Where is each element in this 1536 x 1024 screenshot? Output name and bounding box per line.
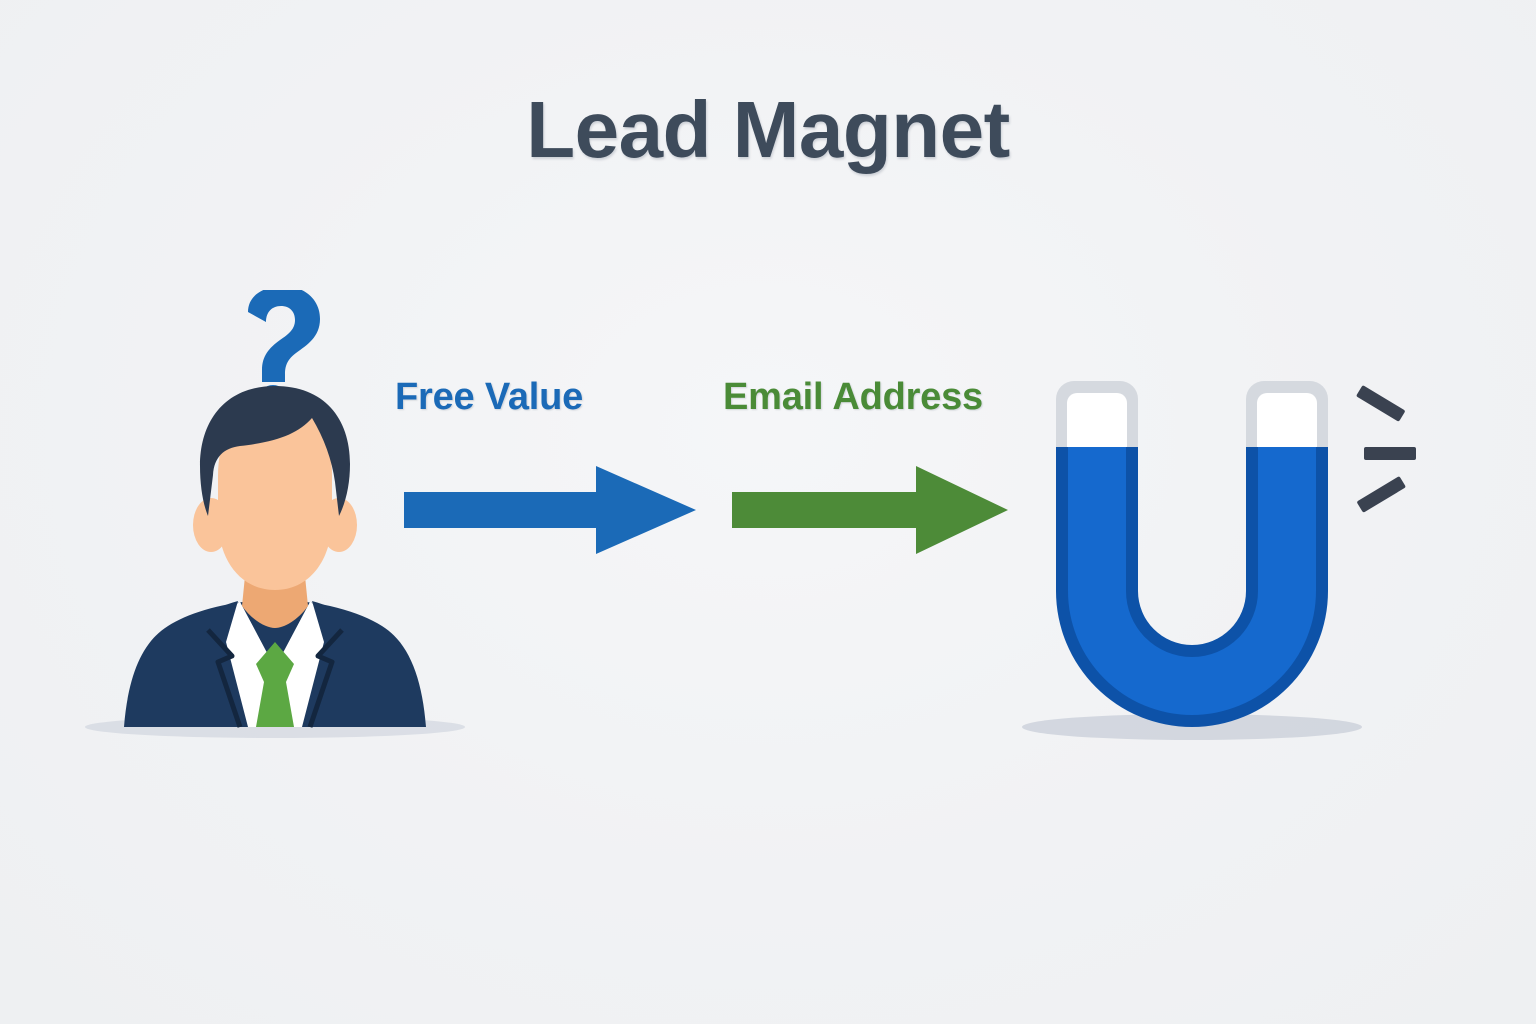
illustration-canvas: Lead Magnet (0, 0, 1536, 1024)
magnet-poles (1056, 381, 1328, 447)
right-arrow-icon-email-address (728, 462, 1012, 558)
arrow-label-email-address: Email Address (723, 376, 983, 419)
right-arrow-icon-free-value (400, 462, 700, 558)
horseshoe-magnet-illustration (1020, 355, 1440, 755)
page-title: Lead Magnet (0, 88, 1536, 172)
arrow-label-free-value: Free Value (395, 376, 583, 419)
person-head (193, 386, 357, 590)
person-body (124, 566, 426, 727)
magnet-spark-lines-icon (1356, 385, 1416, 513)
